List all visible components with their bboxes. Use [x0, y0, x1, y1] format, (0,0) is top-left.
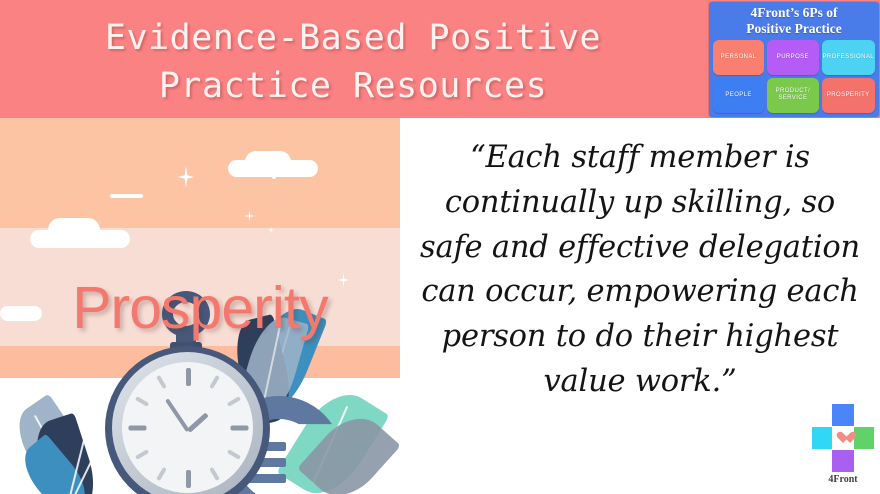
dash-icon — [110, 194, 143, 198]
sixps-tile-prosperity[interactable]: PROSPERITY — [822, 78, 875, 113]
prosperity-overlay-label: Prosperity — [0, 274, 400, 342]
logo-cross-icon — [812, 404, 874, 472]
page-title-line-1: Evidence-Based Positive — [105, 14, 601, 62]
4front-logo[interactable]: 4Front — [812, 404, 874, 490]
clock-tick — [129, 426, 147, 431]
clock-tick — [186, 368, 191, 386]
sixps-tile-purpose[interactable]: PURPOSE — [767, 40, 818, 75]
sixps-tile-personal[interactable]: PERSONAL — [713, 40, 764, 75]
page-title-line-2: Practice Resources — [159, 62, 547, 110]
cloud-icon — [48, 218, 100, 242]
logo-square-right — [852, 427, 874, 449]
logo-label: 4Front — [812, 474, 874, 485]
quote-text: “Each staff member is continually up ski… — [414, 136, 866, 405]
clock-tick — [231, 426, 249, 431]
slide: Evidence-Based Positive Practice Resourc… — [0, 0, 880, 494]
quote-panel: “Each staff member is continually up ski… — [400, 118, 880, 494]
sixps-tile-product-service[interactable]: PRODUCT/ SERVICE — [767, 78, 818, 113]
sixps-panel: 4Front’s 6Ps of Positive Practice PERSON… — [709, 2, 879, 117]
prosperity-illustration: Prosperity — [0, 118, 400, 494]
page-title: Evidence-Based Positive Practice Resourc… — [0, 6, 706, 118]
logo-square-top — [832, 404, 854, 426]
sixps-title-line-1: 4Front’s 6Ps of — [713, 5, 875, 21]
illustration-sky-band — [0, 118, 400, 228]
heart-icon — [837, 432, 850, 444]
sixps-tile-people[interactable]: PEOPLE — [713, 78, 764, 113]
clock-tick — [186, 470, 191, 488]
sixps-grid: PERSONAL PURPOSE PROFESSIONAL PEOPLE PRO… — [713, 40, 875, 113]
sixps-tile-professional[interactable]: PROFESSIONAL — [822, 40, 875, 75]
cloud-icon — [245, 151, 291, 173]
logo-square-center — [832, 427, 854, 449]
dot-icon — [272, 175, 276, 179]
sixps-panel-title: 4Front’s 6Ps of Positive Practice — [713, 5, 875, 39]
logo-square-bottom — [832, 450, 854, 472]
logo-square-left — [812, 427, 834, 449]
sixps-title-line-2: Positive Practice — [713, 21, 875, 37]
